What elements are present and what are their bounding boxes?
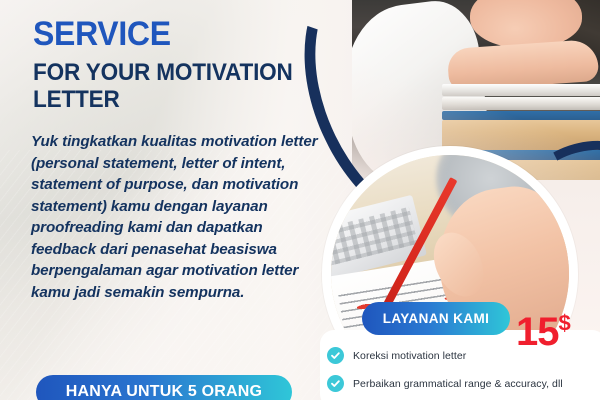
- services-badge-label: LAYANAN KAMI: [383, 311, 490, 326]
- check-circle-icon: [327, 375, 344, 392]
- cta-button[interactable]: HANYA UNTUK 5 ORANG: [36, 375, 292, 400]
- page-title-sub: FOR YOUR MOTIVATION LETTER: [33, 60, 315, 114]
- body-copy: Yuk tingkatkan kualitas motivation lette…: [31, 131, 323, 304]
- promo-poster: SERVICE FOR YOUR MOTIVATION LETTER Yuk t…: [0, 0, 600, 400]
- list-item: Koreksi motivation letter: [327, 347, 466, 364]
- price-amount: 15: [516, 310, 559, 354]
- check-circle-icon: [327, 347, 344, 364]
- list-item-label: Perbaikan grammatical range & accuracy, …: [353, 378, 563, 390]
- services-badge: LAYANAN KAMI: [362, 302, 510, 335]
- cta-button-label: HANYA UNTUK 5 ORANG: [66, 383, 262, 400]
- list-item: Perbaikan grammatical range & accuracy, …: [327, 375, 563, 392]
- price-currency: $: [559, 311, 570, 336]
- page-title-accent: SERVICE: [33, 17, 171, 51]
- list-item-label: Koreksi motivation letter: [353, 350, 466, 362]
- price-tag: 15$: [516, 312, 570, 352]
